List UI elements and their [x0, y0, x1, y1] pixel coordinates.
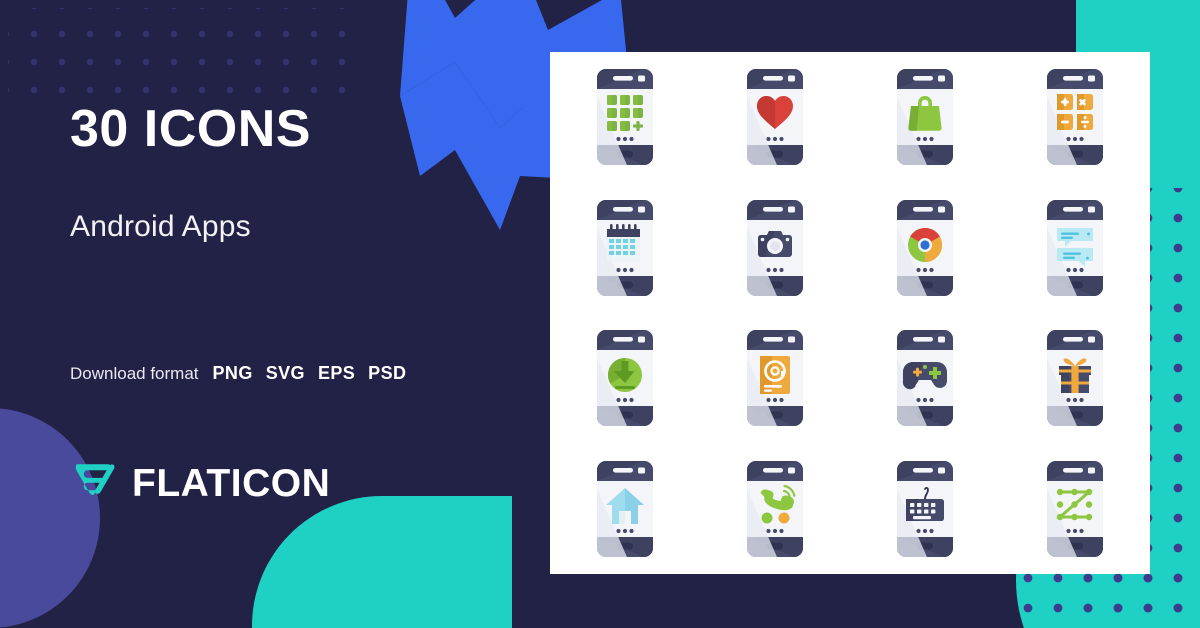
poster-canvas: 30 ICONS Android Apps Download format PN… — [0, 0, 1200, 628]
icon-cell[interactable] — [850, 444, 1000, 575]
icon-preview-card — [550, 52, 1150, 574]
gift-phone-icon — [1043, 328, 1107, 428]
browser-chrome-phone-icon — [893, 198, 957, 298]
call-phone-icon — [743, 459, 807, 559]
calendar-phone-icon — [593, 198, 657, 298]
format-png[interactable]: PNG — [213, 363, 253, 384]
icon-cell[interactable] — [550, 183, 700, 314]
format-psd[interactable]: PSD — [368, 363, 406, 384]
icon-cell[interactable] — [1000, 313, 1150, 444]
gamepad-phone-icon — [893, 328, 957, 428]
keyboard-phone-icon — [893, 459, 957, 559]
page-title: 30 ICONS — [70, 103, 311, 155]
email-phone-icon — [743, 328, 807, 428]
brand-name: FLATICON — [132, 464, 330, 503]
download-format-label: Download format — [70, 364, 199, 384]
home-phone-icon — [593, 459, 657, 559]
icon-cell[interactable] — [850, 52, 1000, 183]
hero-panel: 30 ICONS Android Apps Download format PN… — [0, 0, 550, 628]
format-eps[interactable]: EPS — [318, 363, 355, 384]
brand-logo[interactable]: FLATICON — [72, 461, 330, 505]
icon-cell[interactable] — [1000, 183, 1150, 314]
icon-cell[interactable] — [700, 313, 850, 444]
format-svg[interactable]: SVG — [266, 363, 305, 384]
icon-cell[interactable] — [550, 313, 700, 444]
download-format-row: Download format PNG SVG EPS PSD — [70, 363, 406, 384]
icon-cell[interactable] — [850, 313, 1000, 444]
icon-cell[interactable] — [700, 52, 850, 183]
icon-cell[interactable] — [850, 183, 1000, 314]
pattern-lock-phone-icon — [1043, 459, 1107, 559]
camera-phone-icon — [743, 198, 807, 298]
heart-phone-icon — [743, 67, 807, 167]
chat-messages-phone-icon — [1043, 198, 1107, 298]
download-format-list: PNG SVG EPS PSD — [213, 363, 407, 384]
app-grid-phone-icon — [593, 67, 657, 167]
icon-cell[interactable] — [700, 183, 850, 314]
calculator-phone-icon — [1043, 67, 1107, 167]
icon-cell[interactable] — [550, 444, 700, 575]
shopping-bag-phone-icon — [893, 67, 957, 167]
download-phone-icon — [593, 328, 657, 428]
flaticon-logo-icon — [72, 461, 118, 505]
page-subtitle: Android Apps — [70, 212, 251, 242]
icon-grid — [550, 52, 1150, 574]
icon-cell[interactable] — [1000, 444, 1150, 575]
icon-cell[interactable] — [700, 444, 850, 575]
icon-cell[interactable] — [1000, 52, 1150, 183]
icon-cell[interactable] — [550, 52, 700, 183]
